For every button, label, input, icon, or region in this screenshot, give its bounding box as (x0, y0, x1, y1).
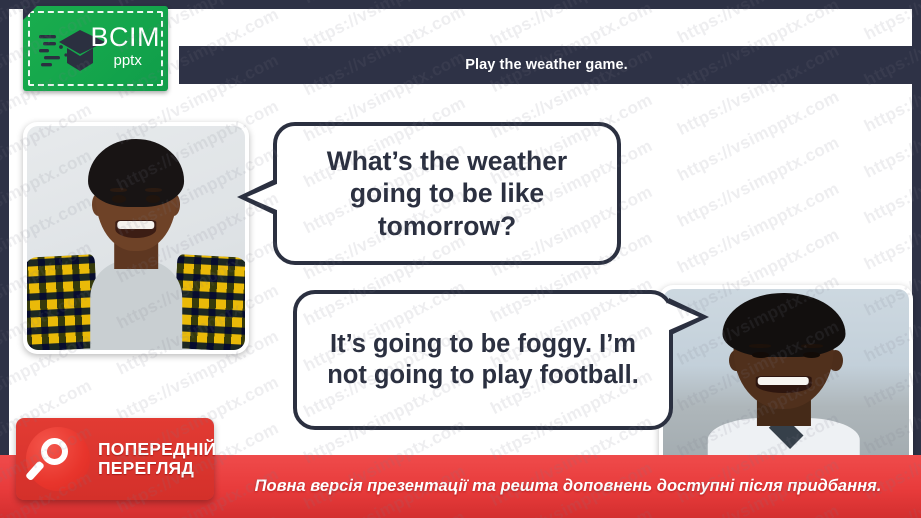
eyebrow-left (110, 188, 127, 192)
speech-bubble-question: What’s the weather going to be like tomo… (273, 122, 621, 265)
bubble-tail-inner (667, 303, 699, 331)
eye-right (146, 195, 160, 203)
plaid-shirt-left (27, 254, 99, 350)
grey-tshirt (90, 260, 182, 350)
magnifier-icon (26, 427, 90, 491)
eyebrow-right (801, 344, 823, 348)
logo-corner-fold (23, 6, 37, 20)
bubble-tail-inner (247, 183, 279, 211)
speech-bubble-question-text: What’s the weather going to be like tomo… (277, 145, 617, 242)
eye-left (752, 352, 769, 358)
eyebrow-right (145, 188, 162, 192)
preview-badge-label: ПОПЕРЕДНІЙ ПЕРЕГЛЯД (98, 440, 216, 477)
smiling-mouth (115, 220, 156, 238)
logo-wordmark: BCIM pptx (91, 24, 161, 68)
page-title: Play the weather game. (465, 57, 628, 73)
teeth (758, 377, 809, 385)
plaid-shirt-right (173, 254, 245, 350)
logo-name-bottom: pptx (114, 53, 161, 68)
preview-badge-line2: ПЕРЕГЛЯД (98, 459, 216, 478)
magnifier-lens (41, 438, 68, 465)
magnifier-handle (25, 460, 45, 481)
speech-bubble-answer-text: It’s going to be foggy. I’m not going to… (297, 329, 669, 391)
smiling-mouth (755, 376, 812, 393)
preview-badge-line1: ПОПЕРЕДНІЙ (98, 440, 216, 459)
teeth (118, 221, 154, 229)
slide-title-bar: Play the weather game. (179, 46, 914, 84)
photo-boy-plaid (23, 122, 249, 354)
slide-viewer: Play the weather game. What’s the weathe… (0, 0, 921, 518)
preview-badge[interactable]: ПОПЕРЕДНІЙ ПЕРЕГЛЯД (16, 418, 214, 500)
logo-name-top: BCIM (91, 24, 161, 51)
photo-boy-plaid-image (27, 126, 245, 350)
speech-bubble-answer: It’s going to be foggy. I’m not going to… (293, 290, 673, 430)
brand-logo[interactable]: BCIM pptx (23, 6, 168, 91)
